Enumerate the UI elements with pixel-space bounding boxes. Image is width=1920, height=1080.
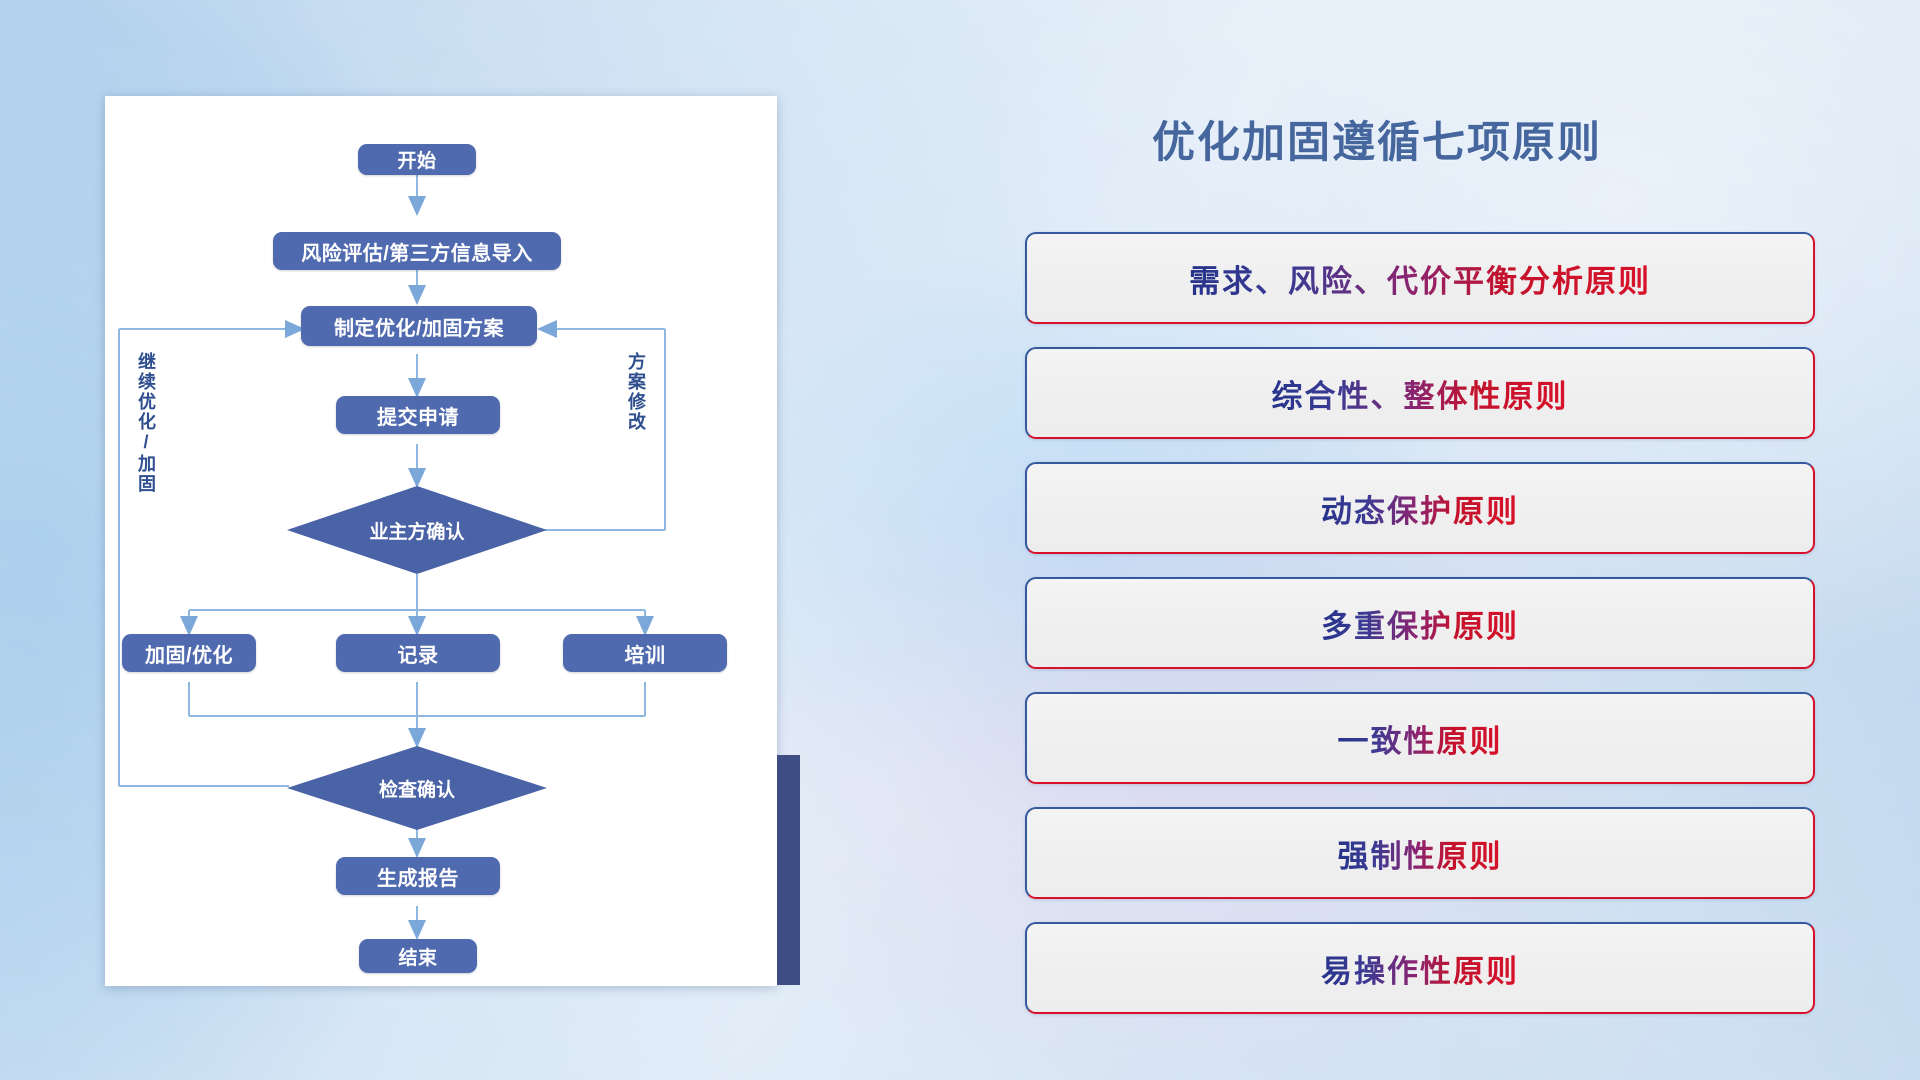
flow-node-end[interactable]: 结束 [359,939,477,973]
flow-node-plan[interactable]: 制定优化/加固方案 [301,306,537,346]
flow-node-label: 检查确认 [379,775,455,802]
flow-node-label: 开始 [397,146,436,173]
principle-card[interactable]: 强制性原则 [1025,807,1815,899]
edge-label-text: 方案修改 [626,352,646,432]
flow-node-label: 业主方确认 [369,517,464,544]
principle-label: 需求、风险、代价平衡分析原则 [1189,256,1651,301]
flow-node-record[interactable]: 记录 [336,634,500,672]
flow-node-label: 结束 [398,943,437,970]
flow-node-label: 生成报告 [377,862,459,891]
flow-node-risk-assessment[interactable]: 风险评估/第三方信息导入 [273,232,561,270]
principle-label: 一致性原则 [1338,716,1503,761]
flow-node-label: 培训 [625,639,666,668]
principle-label: 多重保护原则 [1321,601,1519,646]
principle-label: 动态保护原则 [1321,486,1519,531]
flow-edge-label-plan-revision: 方案修改 [623,352,649,432]
page-title: 优化加固遵循七项原则 [1152,108,1602,170]
flow-node-start[interactable]: 开始 [358,144,476,175]
flow-decision-owner-confirm[interactable]: 业主方确认 [287,486,547,574]
flow-node-label: 提交申请 [377,401,459,430]
principle-label: 综合性、整体性原则 [1272,371,1569,416]
principle-card[interactable]: 多重保护原则 [1025,577,1815,669]
principle-card[interactable]: 一致性原则 [1025,692,1815,784]
flow-decision-inspection-confirm[interactable]: 检查确认 [287,746,547,830]
principle-label: 易操作性原则 [1321,946,1519,991]
flow-edge-label-continue-optimize: 继续优化/加固 [133,352,159,494]
principle-label: 强制性原则 [1338,831,1503,876]
flow-node-label: 风险评估/第三方信息导入 [301,237,533,266]
flow-node-training[interactable]: 培训 [563,634,727,672]
flow-node-label: 加固/优化 [145,639,233,668]
flowchart-card: 开始 风险评估/第三方信息导入 制定优化/加固方案 提交申请 业主方确认 加固/… [105,96,777,986]
principles-list: 需求、风险、代价平衡分析原则 综合性、整体性原则 动态保护原则 多重保护原则 一… [1025,232,1815,1037]
principle-card[interactable]: 需求、风险、代价平衡分析原则 [1025,232,1815,324]
principle-card[interactable]: 易操作性原则 [1025,922,1815,1014]
flow-node-generate-report[interactable]: 生成报告 [336,857,500,895]
flow-node-label: 记录 [398,639,439,668]
edge-label-text: 继续优化/加固 [136,352,156,494]
principle-card[interactable]: 动态保护原则 [1025,462,1815,554]
flow-node-label: 制定优化/加固方案 [334,312,504,341]
flow-node-submit-application[interactable]: 提交申请 [336,396,500,434]
principle-card[interactable]: 综合性、整体性原则 [1025,347,1815,439]
flowchart-canvas: 开始 风险评估/第三方信息导入 制定优化/加固方案 提交申请 业主方确认 加固/… [105,96,777,986]
flow-node-reinforce[interactable]: 加固/优化 [122,634,256,672]
